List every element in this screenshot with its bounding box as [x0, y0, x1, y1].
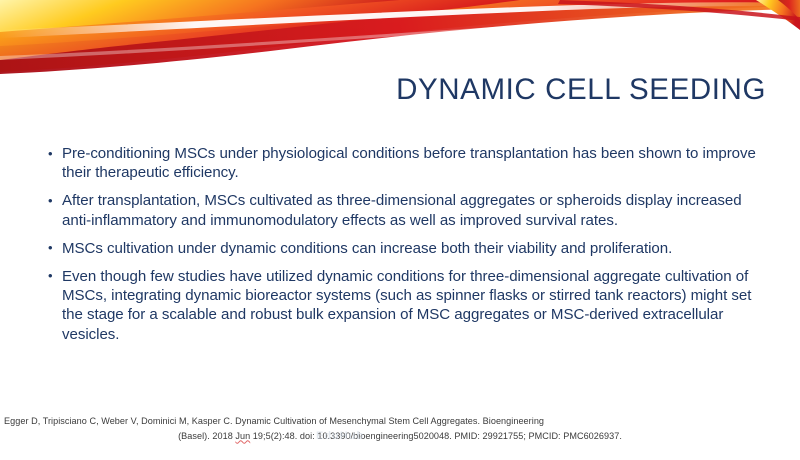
citation-block: Egger D, Tripisciano C, Weber V, Dominic…	[0, 414, 800, 443]
citation-line-1: Egger D, Tripisciano C, Weber V, Dominic…	[0, 414, 800, 429]
bullet-point-icon: •	[48, 266, 53, 285]
orange-red-ribbon-graphic	[0, 0, 800, 78]
bullet-point-icon: •	[48, 144, 53, 163]
slide-title: DYNAMIC CELL SEEDING	[0, 74, 766, 106]
bullet-point-icon: •	[48, 238, 53, 257]
citation-line-2: (Basel). 2018 Jun 19;5(2):48. doi: 10.33…	[0, 429, 800, 444]
bullet-list: • Pre-conditioning MSCs under physiologi…	[44, 144, 756, 353]
bullet-item: • After transplantation, MSCs cultivated…	[44, 191, 756, 230]
spellcheck-flagged-word: Jun	[235, 431, 250, 441]
bullet-text: MSCs cultivation under dynamic condition…	[62, 239, 756, 258]
bullet-item: • MSCs cultivation under dynamic conditi…	[44, 239, 756, 258]
bullet-item: • Pre-conditioning MSCs under physiologi…	[44, 144, 756, 183]
bullet-point-icon: •	[48, 191, 53, 210]
bullet-text: Pre-conditioning MSCs under physiologica…	[62, 144, 756, 183]
citation-line-2-part-a: (Basel). 2018	[178, 431, 235, 441]
bullet-text: Even though few studies have utilized dy…	[62, 267, 756, 345]
bullet-item: • Even though few studies have utilized …	[44, 267, 756, 345]
citation-line-2-part-b: 19;5(2):48. doi: 10.3390/bioengineering5…	[250, 431, 622, 441]
bullet-text: After transplantation, MSCs cultivated a…	[62, 191, 756, 230]
slide-canvas: DYNAMIC CELL SEEDING • Pre-conditioning …	[0, 0, 800, 460]
